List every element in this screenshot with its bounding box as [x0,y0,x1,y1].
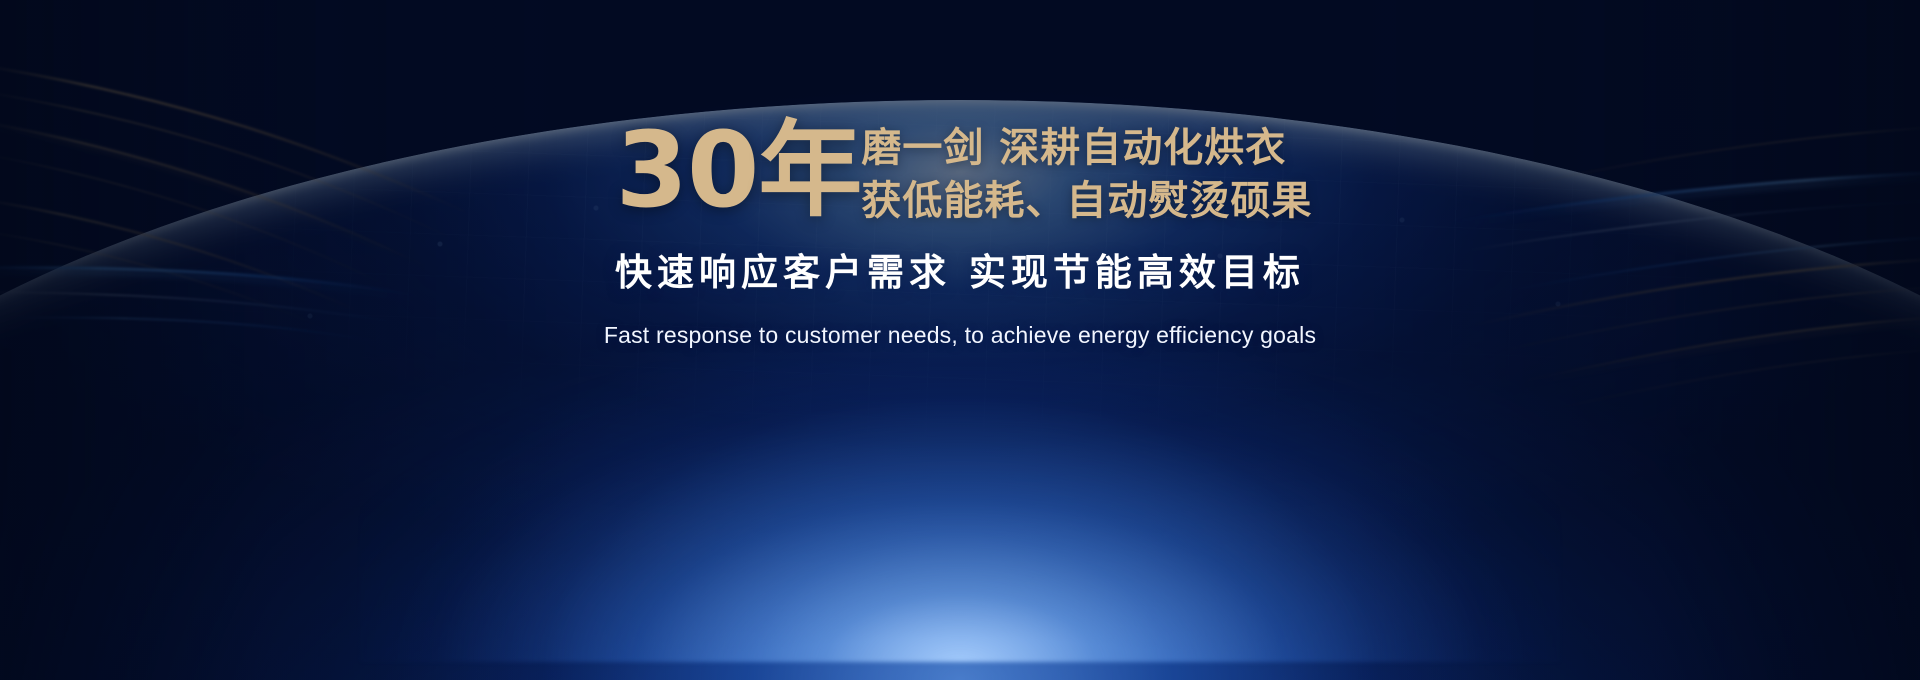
headline-row: 30年 磨一剑 深耕自动化烘衣 获低能耗、自动熨烫硕果 [8,112,1920,224]
promo-banner: 30年 磨一剑 深耕自动化烘衣 获低能耗、自动熨烫硕果 快速响应客户需求 实现节… [0,0,1920,680]
years-number: 30 [616,109,759,231]
years-highlight: 30年 [616,120,862,222]
gold-headline-line-2: 获低能耗、自动熨烫硕果 [861,179,1312,224]
subheadline-chinese: 快速响应客户需求 实现节能高效目标 [0,242,1920,296]
years-unit: 年 [758,109,861,231]
subheadline-english: Fast response to customer needs, to achi… [0,322,1920,349]
gold-headline-line-1: 磨一剑 深耕自动化烘衣 [861,126,1312,171]
banner-content: 30年 磨一剑 深耕自动化烘衣 获低能耗、自动熨烫硕果 快速响应客户需求 实现节… [0,112,1920,349]
gold-headline-lines: 磨一剑 深耕自动化烘衣 获低能耗、自动熨烫硕果 [861,112,1312,224]
